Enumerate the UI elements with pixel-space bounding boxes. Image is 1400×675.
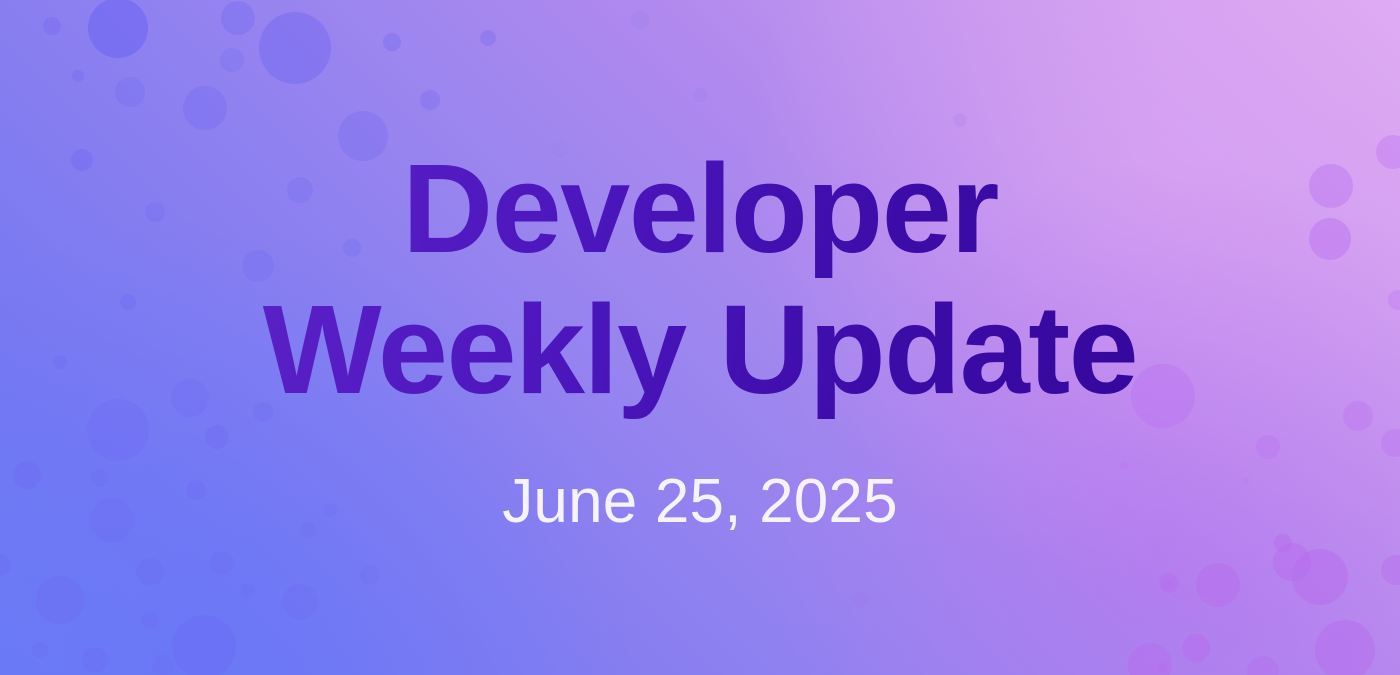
hero-banner: Developer Weekly Update June 25, 2025: [0, 0, 1400, 675]
banner-date-subtitle: June 25, 2025: [502, 466, 898, 537]
title-line-1: Developer: [263, 138, 1138, 279]
page-title: Developer Weekly Update: [253, 138, 1148, 420]
banner-content: Developer Weekly Update June 25, 2025: [0, 0, 1400, 675]
title-line-2: Weekly Update: [263, 279, 1138, 420]
